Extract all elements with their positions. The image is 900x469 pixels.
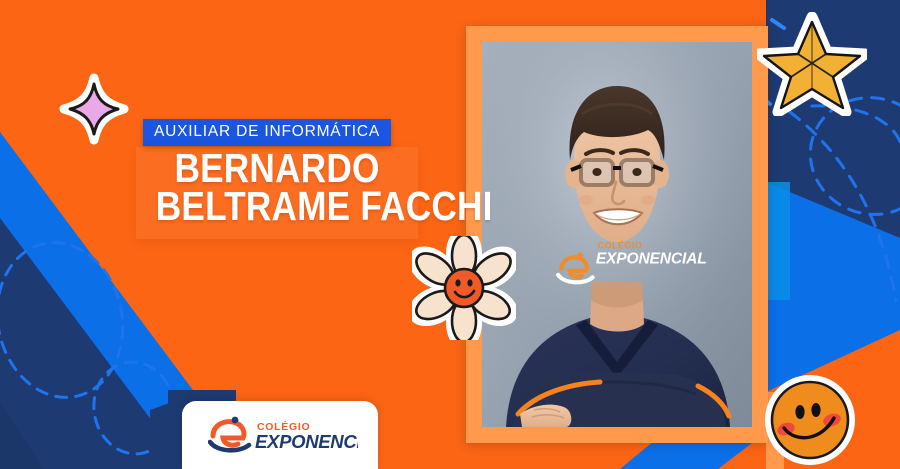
shirt-logo-exponencial: EXPONENCIAL bbox=[596, 250, 707, 267]
role-label: AUXILIAR DE INFORMÁTICA bbox=[154, 124, 380, 140]
brand-logo-lockup: COLÉGIO EXPONENCIAL bbox=[208, 415, 358, 455]
brand-logo-card: COLÉGIO EXPONENCIAL bbox=[182, 401, 378, 469]
smiley-icon bbox=[762, 372, 858, 468]
portrait-photo: COLÉGIO EXPONENCIAL bbox=[482, 42, 752, 427]
portrait-frame: COLÉGIO EXPONENCIAL bbox=[466, 26, 768, 443]
name-line-last: BELTRAME FACCHI bbox=[156, 188, 399, 226]
sparkle-icon bbox=[58, 72, 130, 146]
portrait-illustration: COLÉGIO EXPONENCIAL bbox=[482, 42, 752, 427]
star-icon bbox=[757, 12, 867, 116]
brand-logo-exponencial: EXPONENCIAL bbox=[255, 431, 358, 452]
role-banner: AUXILIAR DE INFORMÁTICA bbox=[143, 119, 391, 146]
flower-icon bbox=[412, 236, 516, 340]
poster-canvas: COLÉGIO EXPONENCIAL AUXILIAR DE INFORMÁT… bbox=[0, 0, 900, 469]
name-block: BERNARDO BELTRAME FACCHI bbox=[136, 150, 418, 225]
shirt-logo-colegio: COLÉGIO bbox=[597, 241, 642, 251]
right-blue-sliver bbox=[766, 182, 790, 300]
brand-logo-svg: COLÉGIO EXPONENCIAL bbox=[208, 415, 358, 455]
